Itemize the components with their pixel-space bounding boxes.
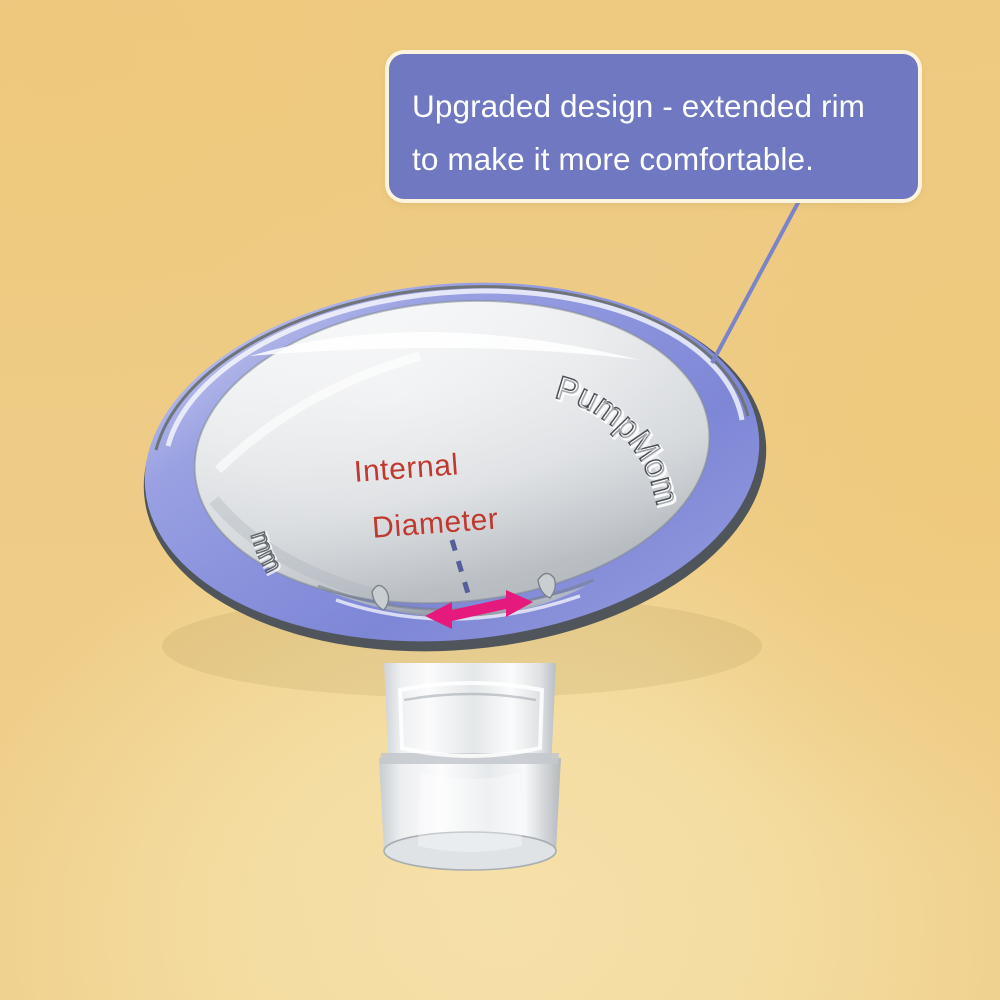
callout-line-1: Upgraded design - extended rim — [412, 80, 896, 133]
product-image-canvas: PumpMom PumpMom PumpMom mm mm — [0, 0, 1000, 1000]
callout-line-2: to make it more comfortable. — [412, 133, 896, 186]
callout-box: Upgraded design - extended rim to make i… — [389, 54, 918, 199]
internal-diameter-label: Internal Diameter — [352, 429, 570, 558]
stem-lower-highlight — [418, 772, 522, 852]
callout-leader-line — [712, 199, 800, 363]
product-stem — [379, 663, 561, 870]
